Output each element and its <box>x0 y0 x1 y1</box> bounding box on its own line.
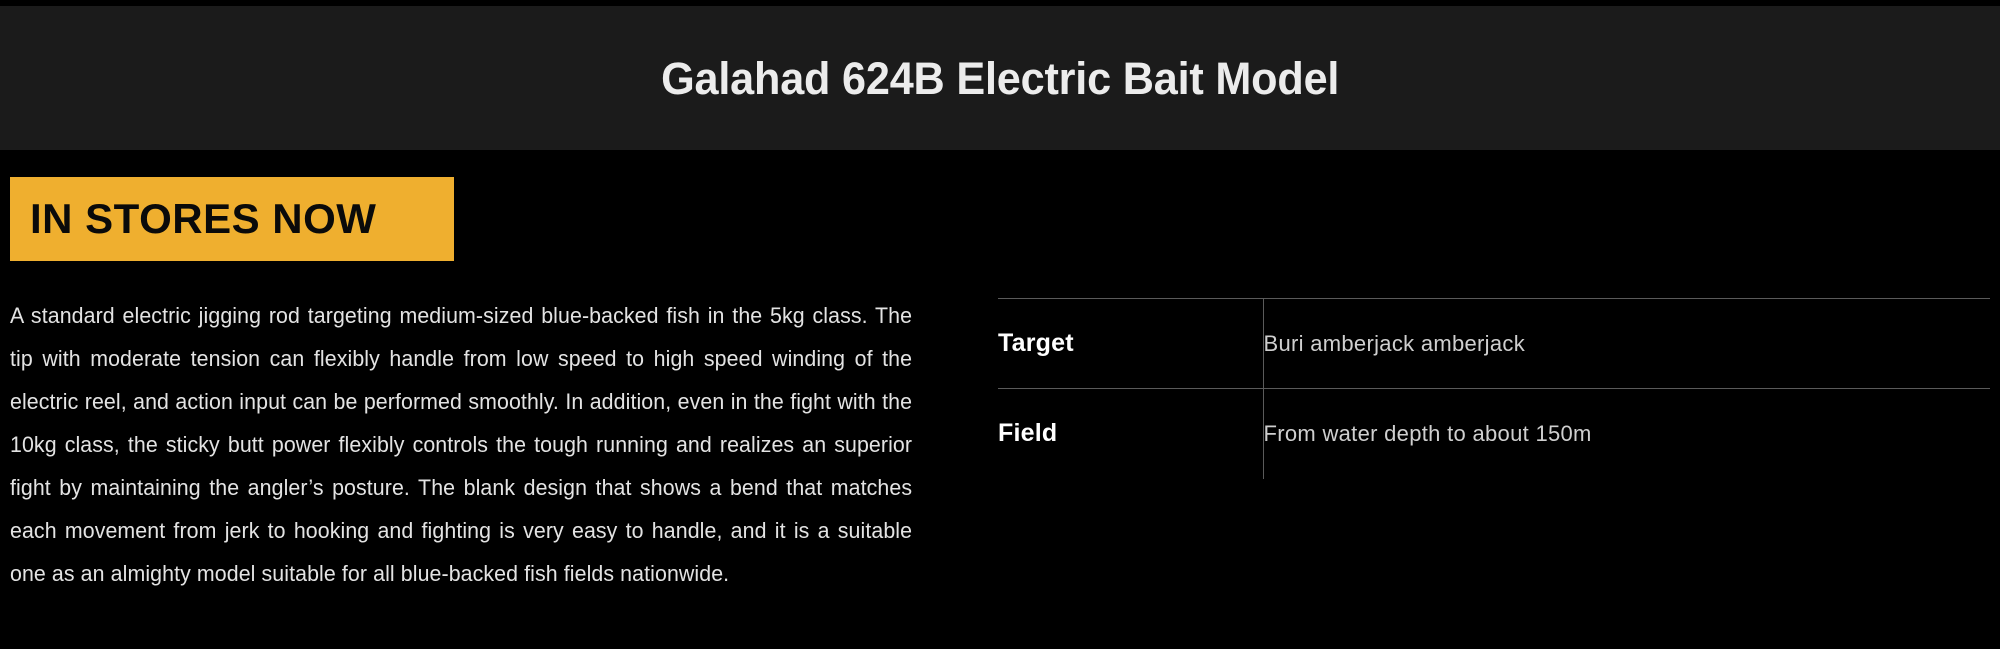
product-page: Galahad 624B Electric Bait Model IN STOR… <box>0 0 2000 649</box>
in-stores-now-banner: IN STORES NOW <box>10 177 454 261</box>
table-row: Target Buri amberjack amberjack <box>998 299 1990 389</box>
product-description: A standard electric jigging rod targetin… <box>10 294 912 595</box>
spec-value-target: Buri amberjack amberjack <box>1263 299 1990 389</box>
spec-key-field: Field <box>998 389 1263 479</box>
table-row: Field From water depth to about 150m <box>998 389 1990 479</box>
in-stores-now-label: IN STORES NOW <box>30 198 376 240</box>
main-content: A standard electric jigging rod targetin… <box>0 294 2000 649</box>
spec-table-body: Target Buri amberjack amberjack Field Fr… <box>998 299 1990 479</box>
spec-value-field: From water depth to about 150m <box>1263 389 1990 479</box>
page-header: Galahad 624B Electric Bait Model <box>0 6 2000 150</box>
page-title: Galahad 624B Electric Bait Model <box>661 56 1339 101</box>
spec-table-container: Target Buri amberjack amberjack Field Fr… <box>998 298 1990 479</box>
spec-key-target: Target <box>998 299 1263 389</box>
description-column: A standard electric jigging rod targetin… <box>10 294 940 595</box>
spec-table: Target Buri amberjack amberjack Field Fr… <box>998 298 1990 479</box>
